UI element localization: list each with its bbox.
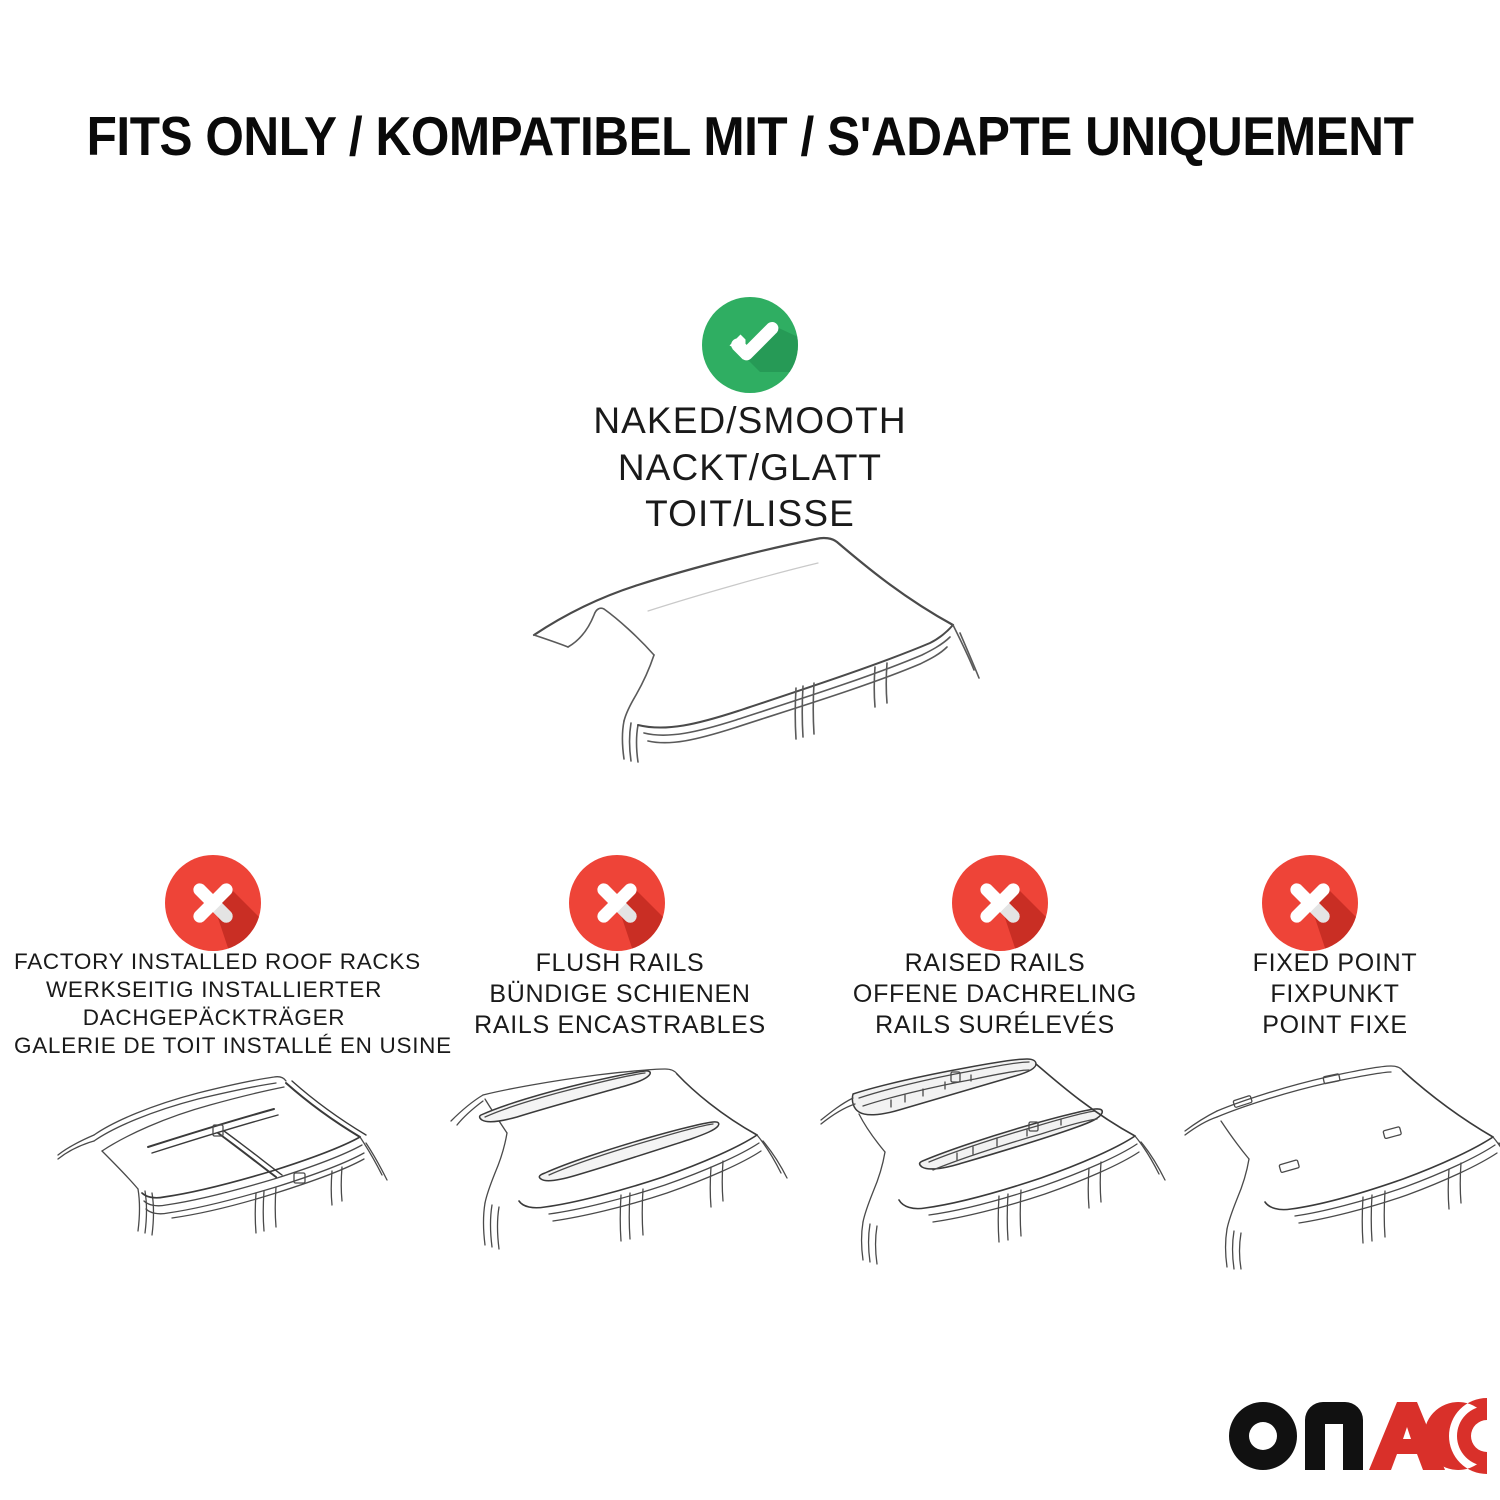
caption-flush-rails: FLUSH RAILS BÜNDIGE SCHIENEN RAILS ENCAS…	[440, 948, 800, 1041]
caption-line: DACHGEPÄCKTRÄGER	[14, 1004, 414, 1032]
caption-line: NAKED/SMOOTH	[430, 398, 1070, 445]
cross-badge-fixed-point	[1262, 855, 1358, 951]
logo-letter-o	[1229, 1402, 1297, 1470]
cross-badge-flush-rails	[569, 855, 665, 951]
caption-line: RAILS SURÉLEVÉS	[820, 1010, 1170, 1041]
caption-line: FIXED POINT	[1190, 948, 1480, 979]
caption-line: WERKSEITIG INSTALLIERTER	[14, 976, 414, 1004]
cross-icon	[1262, 855, 1358, 951]
caption-raised-rails: RAISED RAILS OFFENE DACHRELING RAILS SUR…	[820, 948, 1170, 1041]
caption-fixed-point: FIXED POINT FIXPUNKT POINT FIXE	[1190, 948, 1480, 1041]
illustration-roof-with-factory-racks	[42, 1055, 422, 1270]
illustration-roof-with-fixed-points	[1175, 1055, 1500, 1270]
omac-logo	[1225, 1398, 1490, 1478]
caption-line: FIXPUNKT	[1190, 979, 1480, 1010]
caption-line: RAISED RAILS	[820, 948, 1170, 979]
cross-badge-factory-roof-racks	[165, 855, 261, 951]
caption-line: RAILS ENCASTRABLES	[440, 1010, 800, 1041]
cross-icon	[569, 855, 665, 951]
caption-line: NACKT/GLATT	[430, 445, 1070, 492]
logo-letter-m	[1305, 1402, 1363, 1470]
caption-line: OFFENE DACHRELING	[820, 979, 1170, 1010]
illustration-roof-with-raised-rails	[805, 1050, 1185, 1268]
check-icon	[702, 297, 798, 393]
caption-line: POINT FIXE	[1190, 1010, 1480, 1041]
cross-icon	[952, 855, 1048, 951]
illustration-roof-with-flush-rails	[425, 1055, 805, 1270]
page-title: FITS ONLY / KOMPATIBEL MIT / S'ADAPTE UN…	[75, 104, 1425, 168]
illustration-bare-smooth-roof	[498, 515, 1018, 785]
cross-badge-raised-rails	[952, 855, 1048, 951]
caption-line: BÜNDIGE SCHIENEN	[440, 979, 800, 1010]
caption-line: FLUSH RAILS	[440, 948, 800, 979]
cross-icon	[165, 855, 261, 951]
omac-logo-mark	[1225, 1398, 1490, 1478]
caption-factory-roof-racks: FACTORY INSTALLED ROOF RACKS WERKSEITIG …	[14, 948, 414, 1060]
caption-line: FACTORY INSTALLED ROOF RACKS	[14, 948, 414, 976]
check-badge-naked-smooth	[702, 297, 798, 393]
